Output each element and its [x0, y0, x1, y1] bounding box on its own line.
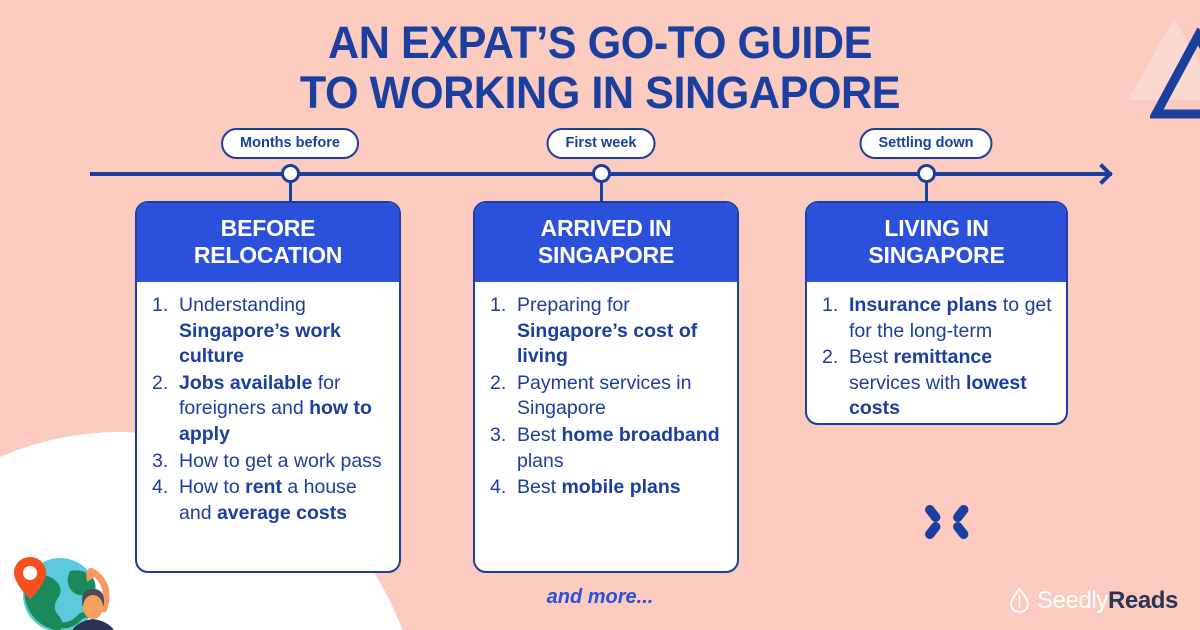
title-line-2: TO WORKING IN SINGAPORE	[24, 68, 1176, 118]
brand-wordmark: SeedlyReads	[1037, 588, 1178, 613]
list-living-in-singapore: Insurance plans to get for the long-term…	[819, 293, 1052, 422]
x-flower-icon	[925, 500, 969, 544]
timeline-marker-2	[592, 164, 611, 183]
and-more-text: and more...	[480, 586, 720, 609]
timeline-label-settling-down: Settling down	[859, 128, 992, 159]
list-item: How to get a work pass	[149, 449, 385, 475]
list-item-emphasis: Singapore’s cost of living	[517, 320, 697, 368]
list-item-emphasis: average costs	[217, 502, 347, 524]
list-item-emphasis: Insurance plans	[849, 294, 997, 316]
list-item-text: How to	[179, 476, 245, 498]
list-before-relocation: Understanding Singapore’s work cultureJo…	[149, 293, 385, 526]
timeline-marker-3	[917, 164, 936, 183]
list-item-text: Preparing for	[517, 294, 630, 316]
list-item-text: plans	[517, 450, 564, 472]
list-item-emphasis: remittance	[893, 346, 992, 368]
brand-reads: Reads	[1108, 587, 1178, 614]
card-body-arrived-in-singapore: Preparing for Singapore’s cost of living…	[475, 282, 737, 571]
list-item-text: Best	[849, 346, 893, 368]
timeline-label-first-week: First week	[547, 128, 656, 159]
list-item: Payment services in Singapore	[487, 371, 723, 422]
list-item-emphasis: home broadband	[561, 424, 719, 446]
card-body-before-relocation: Understanding Singapore’s work cultureJo…	[137, 282, 399, 571]
list-item: Understanding Singapore’s work culture	[149, 293, 385, 370]
card-before-relocation: BEFORE RELOCATION Understanding Singapor…	[135, 201, 401, 573]
brand-logo: SeedlyReads	[1009, 588, 1178, 613]
list-item-emphasis: Jobs available	[179, 372, 312, 394]
list-item-text: How to get a work pass	[179, 450, 382, 472]
list-item: Jobs available for foreigners and how to…	[149, 371, 385, 448]
card-living-in-singapore: LIVING IN SINGAPORE Insurance plans to g…	[805, 201, 1068, 425]
list-item: Preparing for Singapore’s cost of living	[487, 293, 723, 370]
list-item-text: Best	[517, 476, 561, 498]
list-item-text: services with	[849, 372, 966, 394]
list-item: Best mobile plans	[487, 475, 723, 501]
page-title: AN EXPAT’S GO-TO GUIDE TO WORKING IN SIN…	[0, 18, 1200, 118]
seedly-leaf-icon	[1009, 588, 1030, 613]
timeline-label-months-before: Months before	[221, 128, 359, 159]
list-item: Best remittance services with lowest cos…	[819, 345, 1052, 422]
list-item-emphasis: mobile plans	[561, 476, 680, 498]
list-item-text: Payment services in Singapore	[517, 372, 691, 420]
title-line-1: AN EXPAT’S GO-TO GUIDE	[24, 18, 1176, 68]
list-arrived-in-singapore: Preparing for Singapore’s cost of living…	[487, 293, 723, 501]
card-arrived-in-singapore: ARRIVED IN SINGAPORE Preparing for Singa…	[473, 201, 739, 573]
list-item-emphasis: rent	[245, 476, 282, 498]
list-item: How to rent a house and average costs	[149, 475, 385, 526]
timeline-marker-1	[281, 164, 300, 183]
brand-seedly: Seedly	[1037, 587, 1108, 614]
list-item: Best home broadband plans	[487, 423, 723, 474]
list-item-text: Understanding	[179, 294, 306, 316]
arrow-right-icon	[1092, 163, 1114, 185]
list-item-text: Best	[517, 424, 561, 446]
infographic-canvas: AN EXPAT’S GO-TO GUIDE TO WORKING IN SIN…	[0, 0, 1200, 630]
globe-traveler-illustration	[8, 533, 128, 630]
card-header-living-in-singapore: LIVING IN SINGAPORE	[807, 203, 1066, 282]
list-item: Insurance plans to get for the long-term	[819, 293, 1052, 344]
list-item-emphasis: Singapore’s work culture	[179, 320, 341, 368]
card-body-living-in-singapore: Insurance plans to get for the long-term…	[807, 282, 1066, 425]
card-header-before-relocation: BEFORE RELOCATION	[137, 203, 399, 282]
card-header-arrived-in-singapore: ARRIVED IN SINGAPORE	[475, 203, 737, 282]
